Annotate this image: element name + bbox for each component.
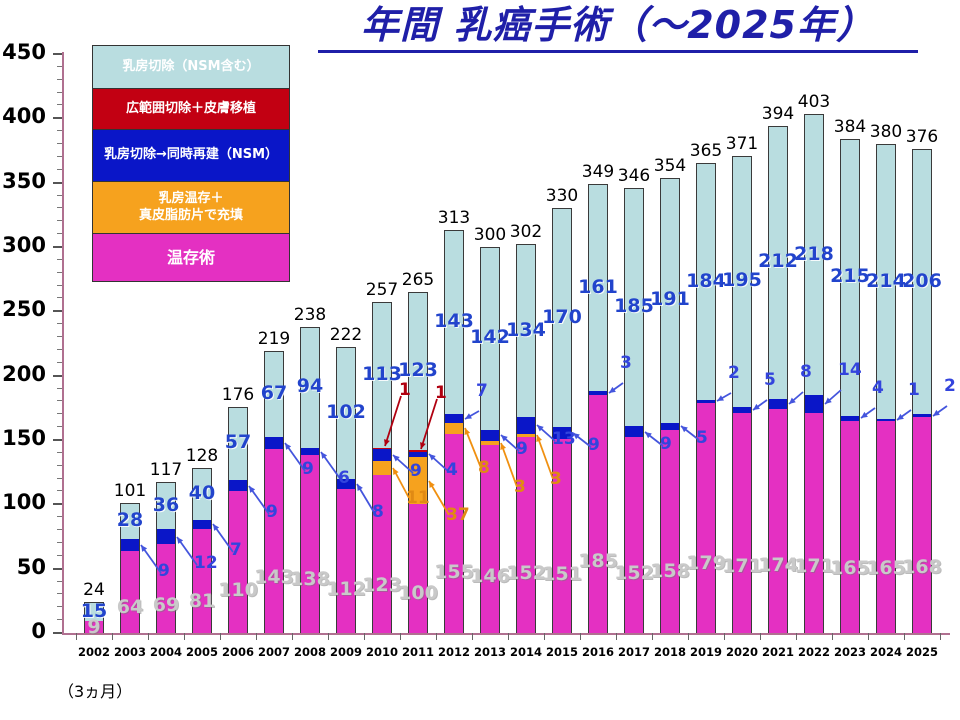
bar-group-2010[interactable]: [372, 52, 392, 635]
segment-value-bcs-2011: 100: [392, 582, 444, 604]
callout-fat-graft-2012: 8: [478, 458, 490, 478]
x-axis-tick-label: 2022: [796, 645, 832, 659]
chart-legend: 乳房切除（NSM含む）広範囲切除＋皮膚移植乳房切除→同時再建（NSM）乳房温存＋…: [92, 45, 290, 282]
x-tick: [940, 633, 941, 640]
x-axis-tick-label: 2024: [868, 645, 904, 659]
bar-segment-fat-graft-2014[interactable]: [516, 434, 536, 438]
segment-value-mastectomy-2015: 170: [536, 306, 588, 328]
x-tick: [364, 633, 365, 640]
callout-nsm-2020: 5: [764, 370, 776, 390]
callout-nsm-2006: 9: [266, 502, 278, 522]
bar-total-label-2015: 330: [536, 186, 588, 206]
y-axis-tick-label: 350: [0, 169, 46, 193]
x-tick: [796, 633, 797, 640]
y-tick-minor: [57, 529, 62, 530]
x-tick: [616, 633, 617, 640]
bar-segment-bcs-2020[interactable]: [732, 413, 752, 633]
callout-nsm-2008: 6: [338, 468, 350, 488]
bar-group-2011[interactable]: [408, 52, 428, 635]
y-tick-minor: [57, 169, 62, 170]
x-tick: [688, 633, 689, 640]
bar-segment-bcs-2003[interactable]: [120, 551, 140, 633]
bar-segment-nsm-recon-2017[interactable]: [624, 426, 644, 438]
bar-group-2017[interactable]: [624, 52, 644, 635]
bar-segment-bcs-2024[interactable]: [876, 421, 896, 633]
bar-total-label-2022: 403: [788, 92, 840, 112]
bar-segment-nsm-recon-2011[interactable]: [408, 452, 428, 457]
bar-total-label-2014: 302: [500, 222, 552, 242]
y-tick-major: [53, 246, 62, 248]
y-tick-minor: [57, 452, 62, 453]
bar-segment-bcs-2011[interactable]: [408, 504, 428, 633]
segment-value-mastectomy-2006: 57: [212, 431, 264, 453]
bar-segment-nsm-recon-2020[interactable]: [732, 407, 752, 413]
bar-segment-nsm-recon-2005[interactable]: [192, 520, 212, 529]
x-tick: [580, 633, 581, 640]
x-axis-tick-label: 2005: [184, 645, 220, 659]
y-tick-minor: [57, 349, 62, 350]
bar-segment-nsm-recon-2014[interactable]: [516, 417, 536, 434]
callout-wide-excision-2010: 1: [399, 380, 411, 400]
legend-item-wide_excision_graft: 広範囲切除＋皮膚移植: [93, 89, 289, 130]
y-tick-major: [53, 53, 62, 55]
x-axis-tick-label: 2025: [904, 645, 940, 659]
y-tick-minor: [57, 413, 62, 414]
bar-group-2022[interactable]: [804, 52, 824, 635]
legend-item-label: 広範囲切除＋皮膚移植: [126, 101, 256, 117]
bar-segment-bcs-2009[interactable]: [336, 489, 356, 633]
x-axis-tick-label: 2016: [580, 645, 616, 659]
callout-fat-graft-2013: 3: [514, 477, 526, 497]
x-tick: [472, 633, 473, 640]
callout-nsm-2025: 2: [944, 376, 956, 396]
bar-segment-bcs-2004[interactable]: [156, 544, 176, 633]
bar-segment-bcs-2008[interactable]: [300, 455, 320, 633]
footnote: （3ヵ月）: [58, 678, 132, 702]
y-tick-major: [53, 568, 62, 570]
y-tick-minor: [57, 143, 62, 144]
x-axis-tick-label: 2018: [652, 645, 688, 659]
x-tick: [832, 633, 833, 640]
segment-value-bcs-2025: 168: [896, 556, 948, 578]
y-tick-minor: [57, 259, 62, 260]
legend-item-mastectomy: 乳房切除（NSM含む）: [93, 46, 289, 89]
y-tick-major: [53, 439, 62, 441]
x-tick: [508, 633, 509, 640]
y-tick-minor: [57, 92, 62, 93]
bar-group-2014[interactable]: [516, 52, 536, 635]
page-title: 年間 乳癌手術（～2025年）: [318, 4, 918, 53]
bar-segment-bcs-2006[interactable]: [228, 491, 248, 633]
bar-group-2019[interactable]: [696, 52, 716, 635]
bar-group-2023[interactable]: [840, 52, 860, 635]
bar-total-label-2011: 265: [392, 270, 444, 290]
y-tick-minor: [57, 619, 62, 620]
bar-segment-nsm-recon-2016[interactable]: [588, 391, 608, 395]
callout-nsm-2018: 5: [696, 428, 708, 448]
bar-segment-bcs-2016[interactable]: [588, 395, 608, 633]
bar-segment-wide-excision-2010[interactable]: [372, 448, 392, 449]
y-tick-minor: [57, 220, 62, 221]
bar-group-2016[interactable]: [588, 52, 608, 635]
x-axis-tick-label: 2013: [472, 645, 508, 659]
bar-group-2012[interactable]: [444, 52, 464, 635]
bar-segment-fat-graft-2013[interactable]: [480, 441, 500, 445]
segment-value-mastectomy-2022: 218: [788, 243, 840, 265]
segment-value-bcs-2002: 9: [68, 616, 120, 638]
bar-segment-wide-excision-2011[interactable]: [408, 450, 428, 451]
legend-item-bcs_dermal_fat_graft: 乳房温存＋真皮脂肪片で充填: [93, 182, 289, 234]
callout-nsm-2023: 4: [872, 378, 884, 398]
bar-segment-bcs-2007[interactable]: [264, 449, 284, 633]
y-tick-minor: [57, 79, 62, 80]
y-tick-major: [53, 503, 62, 505]
y-tick-minor: [57, 336, 62, 337]
callout-nsm-2004: 12: [194, 553, 218, 573]
y-tick-minor: [57, 581, 62, 582]
bar-segment-nsm-recon-2007[interactable]: [264, 437, 284, 449]
callout-nsm-2011: 4: [446, 460, 458, 480]
bar-segment-bcs-2025[interactable]: [912, 417, 932, 633]
bar-segment-bcs-2014[interactable]: [516, 437, 536, 633]
x-tick: [400, 633, 401, 640]
bar-segment-nsm-recon-2006[interactable]: [228, 480, 248, 492]
callout-nsm-2016: 3: [620, 353, 632, 373]
x-tick: [868, 633, 869, 640]
y-axis-tick-label: 200: [0, 362, 46, 386]
bar-segment-nsm-recon-2008[interactable]: [300, 448, 320, 456]
y-tick-minor: [57, 362, 62, 363]
x-axis-tick-label: 2017: [616, 645, 652, 659]
callout-wide-excision-2011: 1: [435, 383, 447, 403]
y-tick-minor: [57, 426, 62, 427]
y-tick-minor: [57, 156, 62, 157]
x-tick: [652, 633, 653, 640]
bar-segment-nsm-recon-2022[interactable]: [804, 395, 824, 413]
callout-nsm-2021: 8: [800, 362, 812, 382]
y-tick-minor: [57, 606, 62, 607]
x-axis-tick-label: 2003: [112, 645, 148, 659]
segment-value-mastectomy-2025: 206: [896, 270, 948, 292]
bar-segment-nsm-recon-2019[interactable]: [696, 400, 716, 403]
bar-segment-bcs-2021[interactable]: [768, 409, 788, 633]
bar-segment-nsm-recon-2021[interactable]: [768, 399, 788, 409]
callout-nsm-2022: 14: [838, 360, 862, 380]
x-axis-tick-label: 2009: [328, 645, 364, 659]
bar-group-2021[interactable]: [768, 52, 788, 635]
x-axis-tick-label: 2012: [436, 645, 472, 659]
x-axis-tick-label: 2011: [400, 645, 436, 659]
bar-segment-bcs-2015[interactable]: [552, 439, 572, 633]
y-tick-minor: [57, 542, 62, 543]
y-tick-minor: [57, 66, 62, 67]
callout-nsm-2007: 9: [302, 459, 314, 479]
bar-segment-nsm-recon-2003[interactable]: [120, 539, 140, 551]
x-tick: [184, 633, 185, 640]
bar-segment-bcs-2017[interactable]: [624, 437, 644, 633]
y-tick-major: [53, 117, 62, 119]
x-axis-tick-label: 2006: [220, 645, 256, 659]
y-axis-tick-label: 400: [0, 104, 46, 128]
x-tick: [904, 633, 905, 640]
y-axis-tick-label: 250: [0, 297, 46, 321]
bar-total-label-2008: 238: [284, 305, 336, 325]
y-axis-tick-label: 150: [0, 426, 46, 450]
bar-segment-bcs-2005[interactable]: [192, 529, 212, 633]
x-axis-tick-label: 2021: [760, 645, 796, 659]
y-tick-major: [53, 375, 62, 377]
y-axis-tick-label: 0: [0, 619, 46, 643]
x-axis-tick-label: 2004: [148, 645, 184, 659]
y-axis-line: [62, 52, 64, 635]
x-axis-tick-label: 2014: [508, 645, 544, 659]
bar-segment-bcs-2018[interactable]: [660, 430, 680, 633]
bar-total-label-2020: 371: [716, 134, 768, 154]
bar-total-label-2009: 222: [320, 325, 372, 345]
legend-item-label: 乳房切除（NSM含む）: [122, 59, 259, 75]
callout-nsm-2003: 9: [158, 561, 170, 581]
bar-segment-nsm-recon-2010[interactable]: [372, 449, 392, 461]
legend-item-label: 乳房温存＋真皮脂肪片で充填: [139, 191, 243, 224]
bar-segment-fat-graft-2012[interactable]: [444, 423, 464, 433]
y-tick-minor: [57, 593, 62, 594]
x-axis-tick-label: 2023: [832, 645, 868, 659]
callout-nsm-2017: 9: [660, 434, 672, 454]
bar-segment-nsm-recon-2018[interactable]: [660, 423, 680, 429]
callout-nsm-2015: 9: [588, 435, 600, 455]
bar-group-2018[interactable]: [660, 52, 680, 635]
y-axis-tick-label: 100: [0, 490, 46, 514]
x-tick: [256, 633, 257, 640]
x-tick: [760, 633, 761, 640]
bar-total-label-2007: 219: [248, 329, 300, 349]
y-tick-major: [53, 632, 62, 634]
x-tick: [220, 633, 221, 640]
legend-item-label: 温存術: [167, 248, 215, 268]
bar-segment-bcs-2010[interactable]: [372, 475, 392, 633]
x-tick: [148, 633, 149, 640]
legend-item-mastectomy_immediate_recon: 乳房切除→同時再建（NSM）: [93, 130, 289, 182]
legend-item-bcs: 温存術: [93, 234, 289, 281]
callout-nsm-2024: 1: [908, 380, 920, 400]
y-tick-minor: [57, 323, 62, 324]
x-tick: [292, 633, 293, 640]
callout-nsm-2009: 8: [372, 502, 384, 522]
bar-segment-nsm-recon-2023[interactable]: [840, 416, 860, 421]
legend-item-label: 乳房切除→同時再建（NSM）: [104, 147, 278, 163]
callout-nsm-2012: 7: [476, 381, 488, 401]
x-tick: [544, 633, 545, 640]
callout-fat-graft-2010: 11: [406, 488, 430, 508]
y-tick-minor: [57, 297, 62, 298]
x-axis-tick-label: 2007: [256, 645, 292, 659]
y-tick-minor: [57, 400, 62, 401]
y-axis-tick-label: 450: [0, 40, 46, 64]
x-axis-tick-label: 2015: [544, 645, 580, 659]
x-axis-tick-label: 2019: [688, 645, 724, 659]
y-tick-minor: [57, 516, 62, 517]
callout-fat-graft-2014: 3: [550, 469, 562, 489]
x-tick: [328, 633, 329, 640]
chart-root: 年間 乳癌手術（～2025年） 050100150200250300350400…: [0, 0, 960, 720]
bar-segment-bcs-2023[interactable]: [840, 421, 860, 633]
y-tick-minor: [57, 555, 62, 556]
bar-group-2015[interactable]: [552, 52, 572, 635]
y-tick-minor: [57, 272, 62, 273]
y-tick-minor: [57, 130, 62, 131]
segment-value-mastectomy-2011: 123: [392, 359, 444, 381]
callout-nsm-2010: 9: [410, 461, 422, 481]
y-axis-tick-label: 300: [0, 233, 46, 257]
y-tick-minor: [57, 490, 62, 491]
x-axis-tick-label: 2010: [364, 645, 400, 659]
y-tick-minor: [57, 465, 62, 466]
x-axis-tick-label: 2020: [724, 645, 760, 659]
x-axis-tick-label: 2008: [292, 645, 328, 659]
y-tick-minor: [57, 195, 62, 196]
y-tick-minor: [57, 104, 62, 105]
y-tick-minor: [57, 478, 62, 479]
y-tick-major: [53, 182, 62, 184]
bar-segment-fat-graft-2010[interactable]: [372, 461, 392, 475]
y-tick-minor: [57, 207, 62, 208]
bar-segment-nsm-recon-2024[interactable]: [876, 419, 896, 420]
callout-nsm-2019: 2: [728, 363, 740, 383]
callout-nsm-2013: 9: [516, 439, 528, 459]
y-tick-major: [53, 310, 62, 312]
y-tick-minor: [57, 388, 62, 389]
segment-value-mastectomy-2009: 102: [320, 401, 372, 423]
bar-segment-nsm-recon-2013[interactable]: [480, 430, 500, 442]
bar-segment-nsm-recon-2012[interactable]: [444, 414, 464, 423]
callout-nsm-2014: 13: [552, 429, 576, 449]
bar-group-2008[interactable]: [300, 52, 320, 635]
bar-segment-nsm-recon-2004[interactable]: [156, 529, 176, 544]
callout-nsm-2005: 7: [230, 540, 242, 560]
segment-value-mastectomy-2005: 40: [176, 482, 228, 504]
x-axis-tick-label: 2002: [76, 645, 112, 659]
segment-value-mastectomy-2008: 94: [284, 375, 336, 397]
bar-segment-nsm-recon-2025[interactable]: [912, 414, 932, 417]
bar-total-label-2025: 376: [896, 127, 948, 147]
x-tick: [436, 633, 437, 640]
bar-segment-bcs-2022[interactable]: [804, 413, 824, 633]
y-tick-minor: [57, 233, 62, 234]
y-axis-tick-label: 50: [0, 555, 46, 579]
y-tick-minor: [57, 285, 62, 286]
callout-fat-graft-2011: 37: [446, 505, 470, 525]
x-tick: [724, 633, 725, 640]
